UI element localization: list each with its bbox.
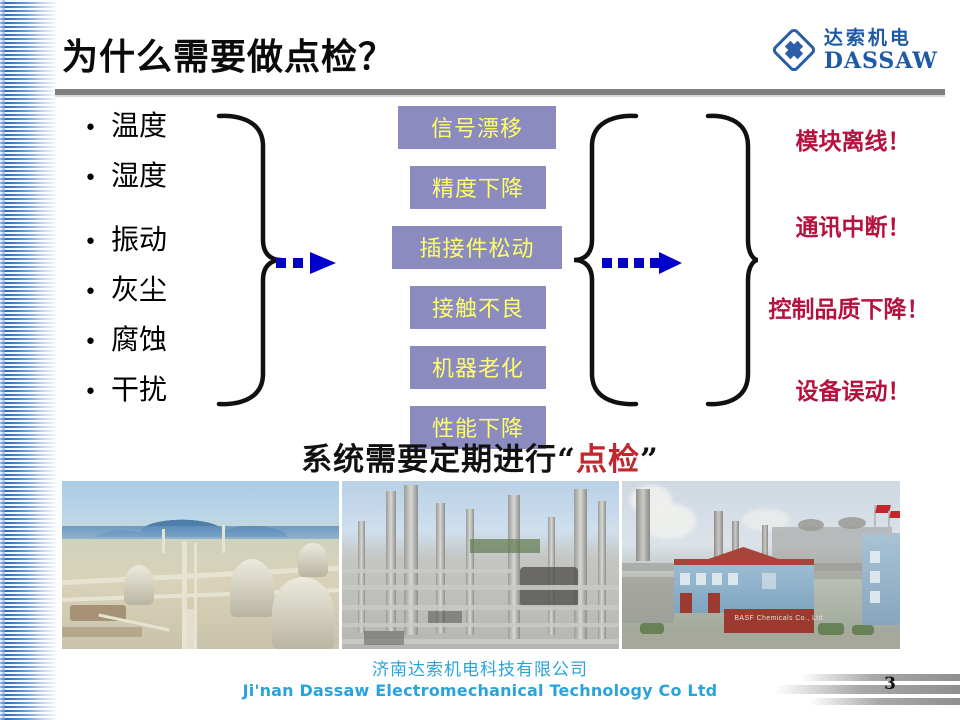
bullet-dot-icon: • — [84, 118, 97, 140]
list-item: • 温度 — [84, 104, 234, 154]
quote-close: ” — [640, 442, 659, 478]
slide-canvas: 为什么需要做点检？ 达索机电 DASSAW • 温度 • 湿度 • 振动 • — [0, 0, 960, 720]
effect-box: 插接件松动 — [392, 226, 562, 269]
footer-company-cn: 济南达索机电科技有限公司 — [0, 660, 960, 681]
footer: 济南达索机电科技有限公司 Ji'nan Dassaw Electromechan… — [0, 660, 960, 701]
list-item: • 干扰 — [84, 368, 234, 414]
bullet-dot-icon: • — [84, 332, 97, 354]
conclusion-line: 系统需要定期进行“点检” — [0, 434, 960, 479]
result-label: 模块离线！ — [748, 122, 958, 156]
logo-chinese-name: 达索机电 — [824, 29, 938, 48]
bullet-dot-icon: • — [84, 232, 97, 254]
cause-label: 湿度 — [111, 154, 167, 194]
cause-label: 灰尘 — [111, 268, 167, 308]
list-item: • 灰尘 — [84, 268, 234, 318]
dashed-right-arrow-icon — [276, 250, 344, 276]
cause-label: 振动 — [111, 218, 167, 258]
plant-sign-text: BASF Chemicals Co., Ltd. — [734, 615, 825, 622]
result-label: 控制品质下降！ — [740, 290, 958, 324]
page-title: 为什么需要做点检？ — [62, 28, 395, 80]
brand-logo: 达索机电 DASSAW — [772, 28, 938, 72]
dashed-arrow-right — [602, 250, 684, 281]
photo-strip: BASF Chemicals Co., Ltd. — [62, 481, 900, 649]
footer-company-en: Ji'nan Dassaw Electromechanical Technolo… — [0, 681, 960, 701]
causes-list: • 温度 • 湿度 • 振动 • 灰尘 • 腐蚀 • 干扰 — [84, 104, 234, 414]
effects-list: 信号漂移 精度下降 插接件松动 接触不良 机器老化 性能下降 — [398, 106, 568, 466]
dassaw-diamond-logo-icon — [772, 28, 816, 72]
logo-english-name: DASSAW — [824, 50, 938, 72]
page-number: 3 — [875, 674, 905, 694]
dashed-right-arrow-icon — [602, 250, 684, 276]
bullet-dot-icon: • — [84, 282, 97, 304]
list-item: • 腐蚀 — [84, 318, 234, 368]
petrochemical-columns-photo — [342, 481, 620, 649]
aerial-refinery-by-sea-photo — [62, 481, 339, 649]
effect-box: 接触不良 — [410, 286, 546, 329]
effect-box: 机器老化 — [410, 346, 546, 389]
basf-chemicals-plant-photo: BASF Chemicals Co., Ltd. — [622, 481, 900, 649]
bullet-dot-icon: • — [84, 382, 97, 404]
bullet-dot-icon: • — [84, 168, 97, 190]
results-list: 模块离线！ 通讯中断！ 控制品质下降！ 设备误动！ — [748, 118, 958, 406]
effect-box: 信号漂移 — [398, 106, 556, 149]
cause-label: 干扰 — [111, 368, 167, 408]
list-item: • 湿度 — [84, 154, 234, 218]
list-item: • 振动 — [84, 218, 234, 268]
result-label: 通讯中断！ — [748, 208, 958, 242]
quote-open: “ — [557, 442, 576, 478]
conclusion-highlight: 点检 — [576, 442, 640, 478]
result-label: 设备误动！ — [748, 372, 958, 406]
cause-label: 腐蚀 — [111, 318, 167, 358]
dashed-arrow-left — [276, 250, 344, 281]
logo-text-block: 达索机电 DASSAW — [824, 29, 938, 72]
effect-box: 精度下降 — [410, 166, 546, 209]
cause-label: 温度 — [111, 104, 167, 144]
left-band-edge — [0, 0, 5, 720]
left-decorative-band — [0, 0, 58, 720]
conclusion-prefix: 系统需要定期进行 — [301, 442, 557, 478]
title-divider-rule — [55, 89, 945, 95]
